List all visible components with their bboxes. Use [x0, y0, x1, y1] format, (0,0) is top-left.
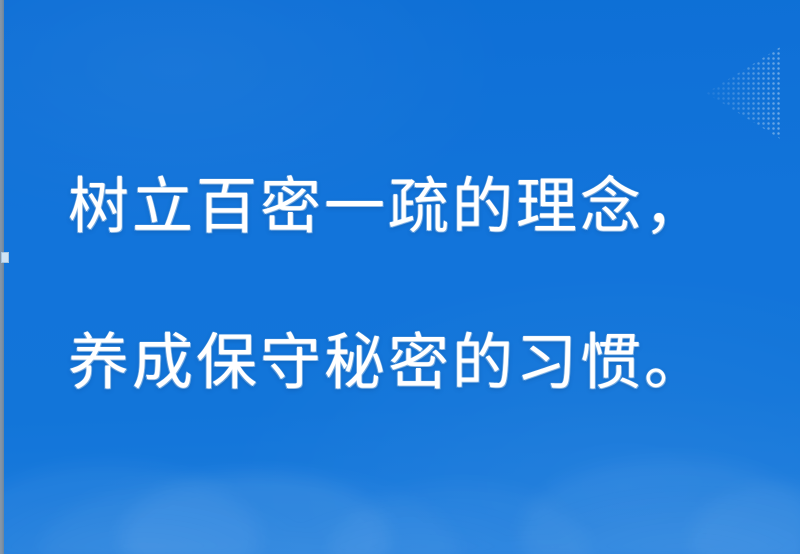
slogan-line-1: 树立百密一疏的理念， — [68, 177, 768, 238]
slogan-text-block: 树立百密一疏的理念， 养成保守秘密的习惯。 — [0, 0, 800, 554]
slogan-line-2: 养成保守秘密的习惯。 — [68, 333, 768, 394]
slide-canvas: 树立百密一疏的理念， 养成保守秘密的习惯。 — [0, 0, 800, 554]
